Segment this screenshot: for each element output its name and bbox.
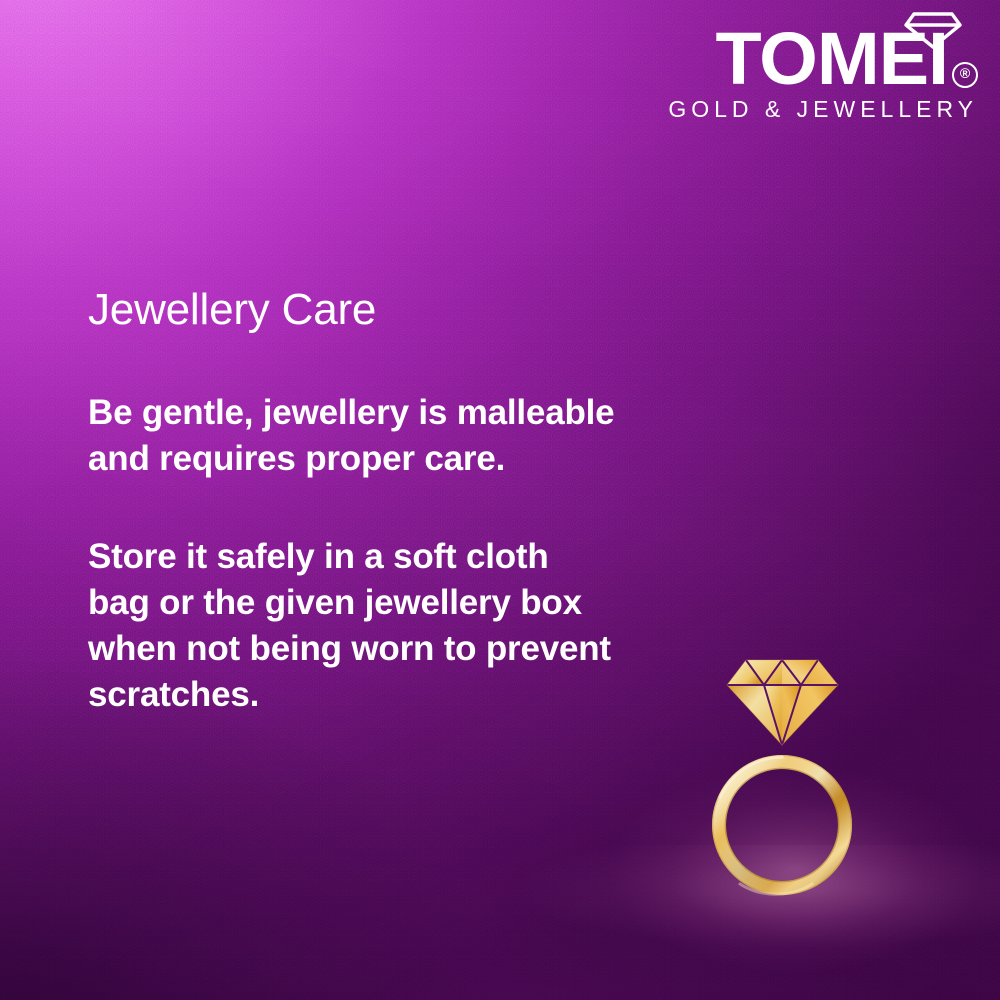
registered-trademark-icon: ® (952, 62, 978, 88)
logo-wordmark-text: TOMEI (715, 22, 948, 96)
logo-wordmark-row: TOMEI ® (654, 8, 984, 100)
care-paragraph-2: Store it safely in a soft cloth bag or t… (88, 534, 618, 718)
gold-ring-band-icon (712, 755, 852, 895)
page-title: Jewellery Care (88, 284, 688, 336)
diamond-ring-illustration (690, 645, 880, 935)
logo-tagline-text: GOLD & JEWELLERY (654, 96, 984, 123)
copy-block: Jewellery Care Be gentle, jewellery is m… (88, 284, 688, 718)
brilliant-cut-diamond-icon (727, 660, 838, 745)
tomei-logo: TOMEI ® GOLD & JEWELLERY (654, 8, 984, 123)
care-paragraph-1: Be gentle, jewellery is malleable and re… (88, 390, 633, 482)
jewellery-care-poster: TOMEI ® GOLD & JEWELLERY Jewellery Care … (0, 0, 1000, 1000)
